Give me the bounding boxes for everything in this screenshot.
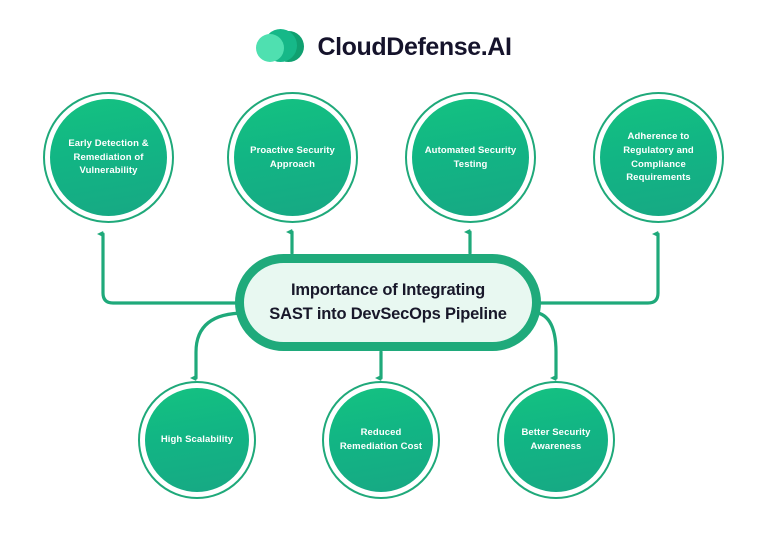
overlapping-circles-logo-icon [256, 28, 304, 66]
connector-center-to-adherence-regulatory [530, 234, 658, 303]
node-disc: Proactive Security Approach [234, 99, 351, 216]
node-disc: Automated Security Testing [412, 99, 529, 216]
node-better-awareness[interactable]: Better Security Awareness [497, 381, 615, 499]
node-label: Adherence to Regulatory and Compliance R… [600, 130, 717, 185]
node-reduced-cost[interactable]: Reduced Remediation Cost [322, 381, 440, 499]
node-disc: High Scalability [145, 388, 249, 492]
node-label: Better Security Awareness [504, 426, 608, 454]
node-label: Proactive Security Approach [234, 144, 351, 172]
central-hub-line2: SAST into DevSecOps Pipeline [269, 303, 506, 326]
node-disc: Better Security Awareness [504, 388, 608, 492]
node-proactive-security[interactable]: Proactive Security Approach [227, 92, 358, 223]
node-automated-testing[interactable]: Automated Security Testing [405, 92, 536, 223]
central-hub-label: Importance of Integrating SAST into DevS… [269, 279, 506, 325]
node-label: Early Detection & Remediation of Vulnera… [50, 137, 167, 178]
central-hub-line1: Importance of Integrating [269, 279, 506, 302]
connector-center-to-early-detection [103, 234, 246, 303]
connector-center-to-high-scalability [196, 313, 245, 378]
node-high-scalability[interactable]: High Scalability [138, 381, 256, 499]
node-label: Reduced Remediation Cost [329, 426, 433, 454]
central-hub[interactable]: Importance of Integrating SAST into DevS… [235, 254, 541, 351]
node-disc: Adherence to Regulatory and Compliance R… [600, 99, 717, 216]
node-adherence-regulatory[interactable]: Adherence to Regulatory and Compliance R… [593, 92, 724, 223]
brand-logo: CloudDefense.AI [0, 24, 768, 70]
node-disc: Early Detection & Remediation of Vulnera… [50, 99, 167, 216]
node-early-detection[interactable]: Early Detection & Remediation of Vulnera… [43, 92, 174, 223]
node-disc: Reduced Remediation Cost [329, 388, 433, 492]
node-label: Automated Security Testing [412, 144, 529, 172]
diagram-canvas: CloudDefense.AI Early Detection [0, 0, 768, 544]
brand-name: CloudDefense.AI [317, 35, 511, 60]
node-label: High Scalability [151, 433, 243, 447]
